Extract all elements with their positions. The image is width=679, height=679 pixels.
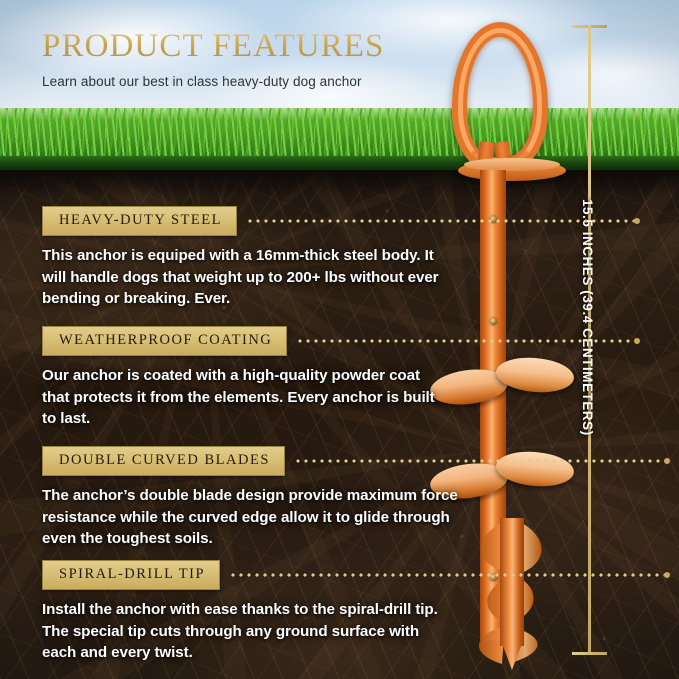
feature-badge-label: SPIRAL-DRILL TIP (42, 560, 220, 590)
shaft-bolt-mid (490, 318, 497, 325)
feature-dotted-connector (296, 339, 637, 343)
feature-badge-label: HEAVY-DUTY STEEL (42, 206, 237, 236)
feature-double-curved-blades: DOUBLE CURVED BLADES The anchor’s double… (42, 446, 667, 550)
feature-badge-label: WEATHERPROOF COATING (42, 326, 287, 356)
feature-badge-row: DOUBLE CURVED BLADES (42, 446, 667, 476)
feature-body-text: This anchor is equiped with a 16mm-thick… (42, 245, 442, 310)
feature-badge-row: SPIRAL-DRILL TIP (42, 560, 667, 590)
feature-dotted-connector (294, 459, 667, 463)
feature-dotted-connector (246, 219, 637, 223)
feature-badge-label: DOUBLE CURVED BLADES (42, 446, 285, 476)
collar-disc-top (464, 158, 560, 171)
feature-dotted-connector (229, 573, 667, 577)
feature-spiral-drill-tip: SPIRAL-DRILL TIP Install the anchor with… (42, 560, 667, 664)
feature-body-text: The anchor’s double blade design provide… (42, 485, 462, 550)
feature-body-text: Our anchor is coated with a high-quality… (42, 365, 442, 430)
feature-badge-row: HEAVY-DUTY STEEL (42, 206, 637, 236)
feature-heavy-duty-steel: HEAVY-DUTY STEEL This anchor is equiped … (42, 206, 637, 310)
feature-badge-row: WEATHERPROOF COATING (42, 326, 637, 356)
product-features-infographic: PRODUCT FEATURES Learn about our best in… (0, 0, 679, 679)
feature-weatherproof-coating: WEATHERPROOF COATING Our anchor is coate… (42, 326, 637, 430)
feature-body-text: Install the anchor with ease thanks to t… (42, 599, 452, 664)
